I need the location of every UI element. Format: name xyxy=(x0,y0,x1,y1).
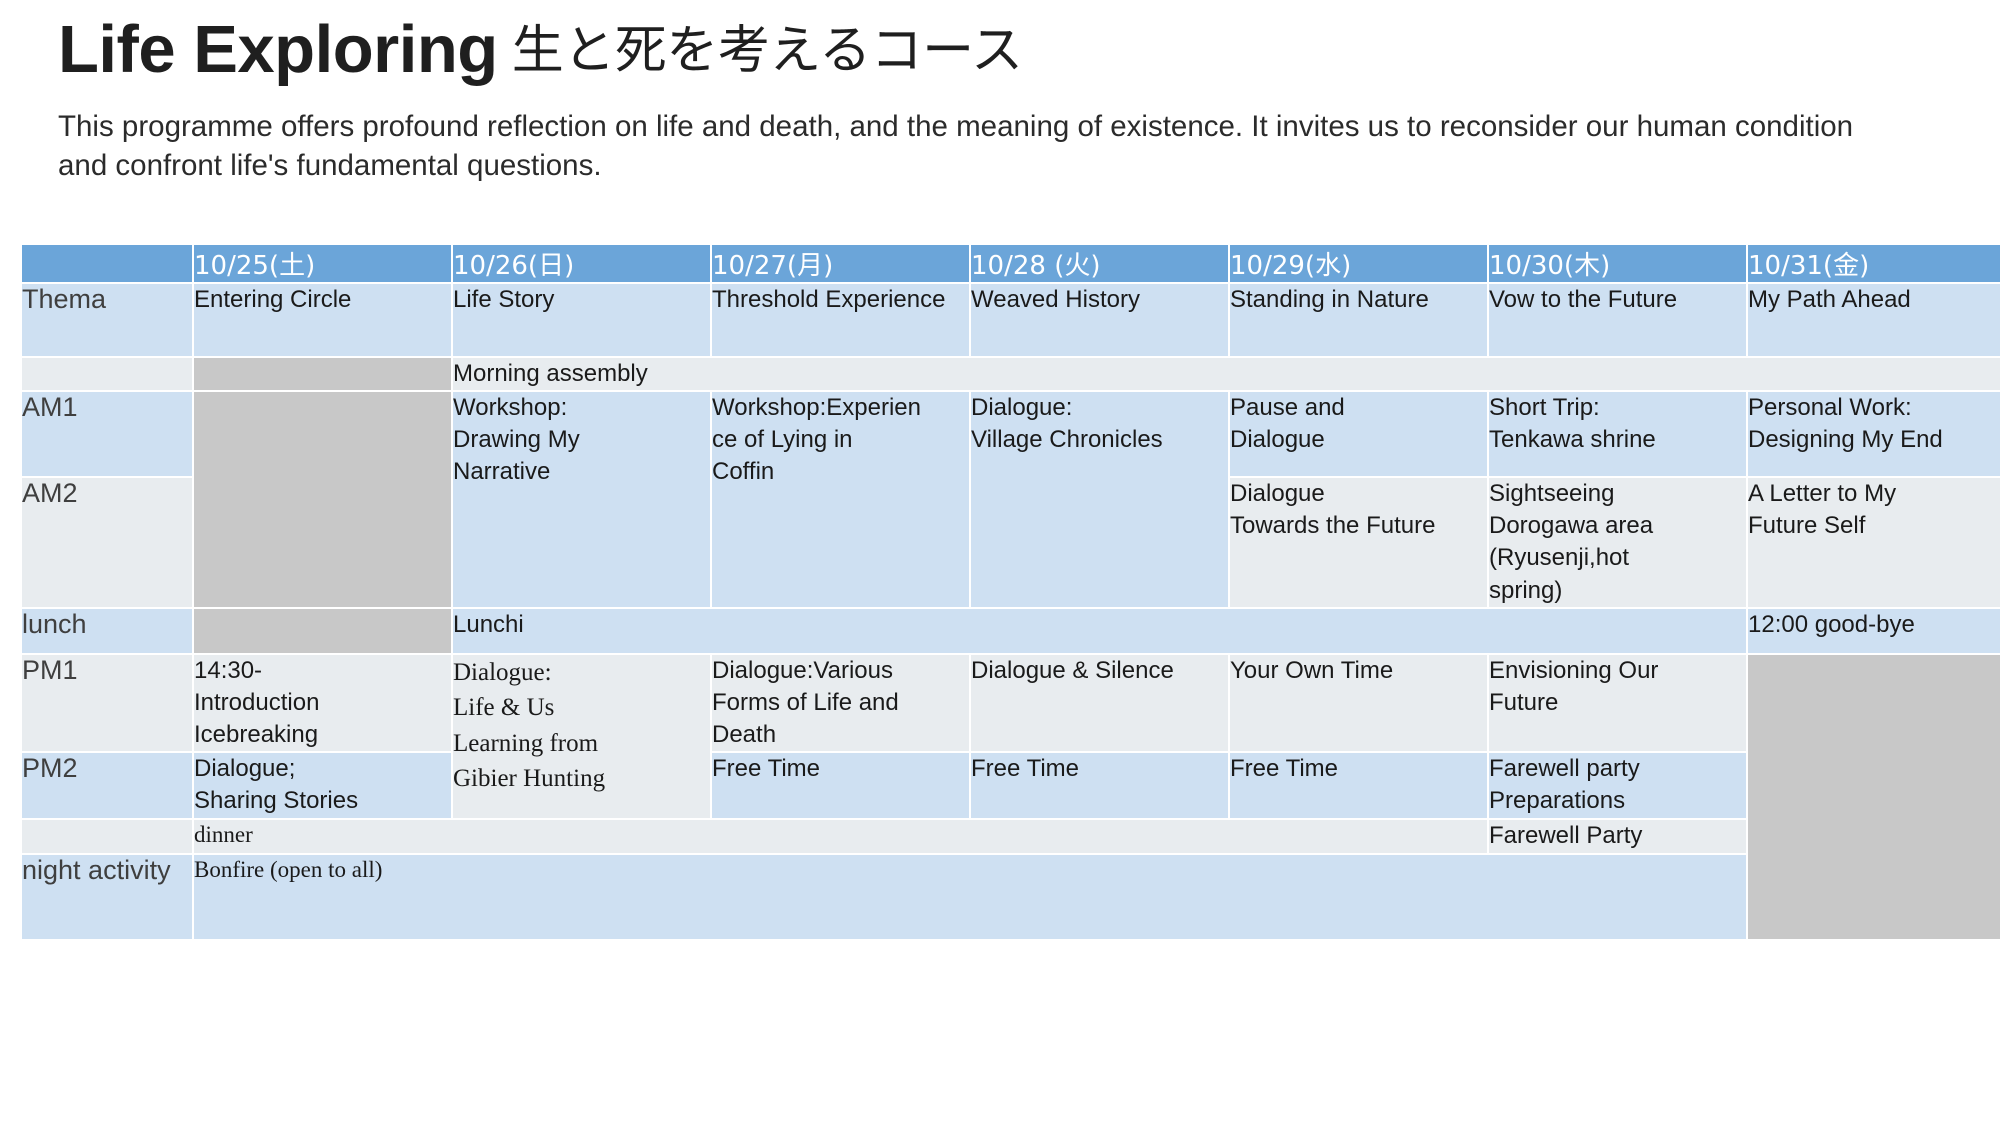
cell-morning-assembly: Morning assembly xyxy=(453,358,2000,390)
cell-assembly-day-1-blocked xyxy=(194,358,451,390)
row-label-am1: AM1 xyxy=(22,392,192,476)
cell-pm2-day-1: Dialogue;Sharing Stories xyxy=(194,753,451,818)
cell-thema-day-7: My Path Ahead xyxy=(1748,284,2000,356)
column-header-day-7: 10/31(金) xyxy=(1748,245,2000,282)
table-row-dinner: dinner Farewell Party xyxy=(22,820,2000,853)
cell-pm1-day-3: Dialogue:VariousForms of Life andDeath xyxy=(712,655,969,751)
cell-am-day-4: Dialogue:Village Chronicles xyxy=(971,392,1228,607)
cell-pm1-day-6: Envisioning OurFuture xyxy=(1489,655,1746,751)
cell-thema-day-1: Entering Circle xyxy=(194,284,451,356)
header-corner-cell xyxy=(22,245,192,282)
cell-lunch-main: Lunchi xyxy=(453,609,1746,653)
row-label-night-activity: night activity xyxy=(22,855,192,939)
page-title: Life Exploring生と死を考えるコース xyxy=(58,14,1958,85)
cell-thema-day-5: Standing in Nature xyxy=(1230,284,1487,356)
row-label-assembly xyxy=(22,358,192,390)
column-header-day-6: 10/30(木) xyxy=(1489,245,1746,282)
cell-pm1-day-1: 14:30-IntroductionIcebreaking xyxy=(194,655,451,751)
cell-lunch-day-7: 12:00 good-bye xyxy=(1748,609,2000,653)
cell-dinner-main: dinner xyxy=(194,820,1487,853)
cell-thema-day-4: Weaved History xyxy=(971,284,1228,356)
row-label-thema: Thema xyxy=(22,284,192,356)
cell-thema-day-3: Threshold Experience xyxy=(712,284,969,356)
cell-night-activity-main: Bonfire (open to all) xyxy=(194,855,1746,939)
table-row-night-activity: night activity Bonfire (open to all) xyxy=(22,855,2000,939)
cell-am1-day-6: Short Trip:Tenkawa shrine xyxy=(1489,392,1746,476)
row-label-am2: AM2 xyxy=(22,478,192,607)
cell-am-day-2: Workshop:Drawing MyNarrative xyxy=(453,392,710,607)
table-row-pm1: PM1 14:30-IntroductionIcebreaking Dialog… xyxy=(22,655,2000,751)
cell-thema-day-6: Vow to the Future xyxy=(1489,284,1746,356)
cell-lunch-day-1-blocked xyxy=(194,609,451,653)
cell-am2-day-7: A Letter to MyFuture Self xyxy=(1748,478,2000,607)
cell-pm-day-7-blocked xyxy=(1748,655,2000,939)
cell-pm2-day-4: Free Time xyxy=(971,753,1228,818)
row-label-pm2: PM2 xyxy=(22,753,192,818)
cell-pm2-day-3: Free Time xyxy=(712,753,969,818)
cell-am1-day-5: Pause andDialogue xyxy=(1230,392,1487,476)
cell-pm2-day-5: Free Time xyxy=(1230,753,1487,818)
table-row-pm2: PM2 Dialogue;Sharing Stories Free Time F… xyxy=(22,753,2000,818)
cell-pm1-day-5: Your Own Time xyxy=(1230,655,1487,751)
cell-am-day-3: Workshop:Experience of Lying inCoffin xyxy=(712,392,969,607)
table-row-morning-assembly: Morning assembly xyxy=(22,358,2000,390)
schedule-table: 10/25(土) 10/26(日) 10/27(月) 10/28 (火) 10/… xyxy=(20,243,2000,941)
row-label-dinner xyxy=(22,820,192,853)
cell-pm1-day-4: Dialogue & Silence xyxy=(971,655,1228,751)
table-row-thema: Thema Entering Circle Life Story Thresho… xyxy=(22,284,2000,356)
row-label-pm1: PM1 xyxy=(22,655,192,751)
cell-am2-day-5: DialogueTowards the Future xyxy=(1230,478,1487,607)
column-header-day-1: 10/25(土) xyxy=(194,245,451,282)
page-subtitle: This programme offers profound reflectio… xyxy=(58,107,1908,185)
table-header-row: 10/25(土) 10/26(日) 10/27(月) 10/28 (火) 10/… xyxy=(22,245,2000,282)
table-row-am1: AM1 Workshop:Drawing MyNarrative Worksho… xyxy=(22,392,2000,476)
slide-root: Life Exploring生と死を考えるコース This programme … xyxy=(0,0,2000,1125)
cell-thema-day-2: Life Story xyxy=(453,284,710,356)
column-header-day-4: 10/28 (火) xyxy=(971,245,1228,282)
cell-pm2-day-6: Farewell partyPreparations xyxy=(1489,753,1746,818)
cell-pm-day-2: Dialogue:Life & UsLearning fromGibier Hu… xyxy=(453,655,710,818)
page-title-english: Life Exploring xyxy=(58,12,498,87)
title-block: Life Exploring生と死を考えるコース This programme … xyxy=(58,14,1958,185)
table-row-lunch: lunch Lunchi 12:00 good-bye xyxy=(22,609,2000,653)
cell-am-day-1-blocked xyxy=(194,392,451,607)
page-title-japanese: 生と死を考えるコース xyxy=(498,21,1023,81)
column-header-day-2: 10/26(日) xyxy=(453,245,710,282)
cell-am2-day-6: SightseeingDorogawa area(Ryusenji,hotspr… xyxy=(1489,478,1746,607)
cell-am1-day-7: Personal Work:Designing My End xyxy=(1748,392,2000,476)
column-header-day-3: 10/27(月) xyxy=(712,245,969,282)
column-header-day-5: 10/29(水) xyxy=(1230,245,1487,282)
cell-dinner-day-6: Farewell Party xyxy=(1489,820,1746,853)
row-label-lunch: lunch xyxy=(22,609,192,653)
